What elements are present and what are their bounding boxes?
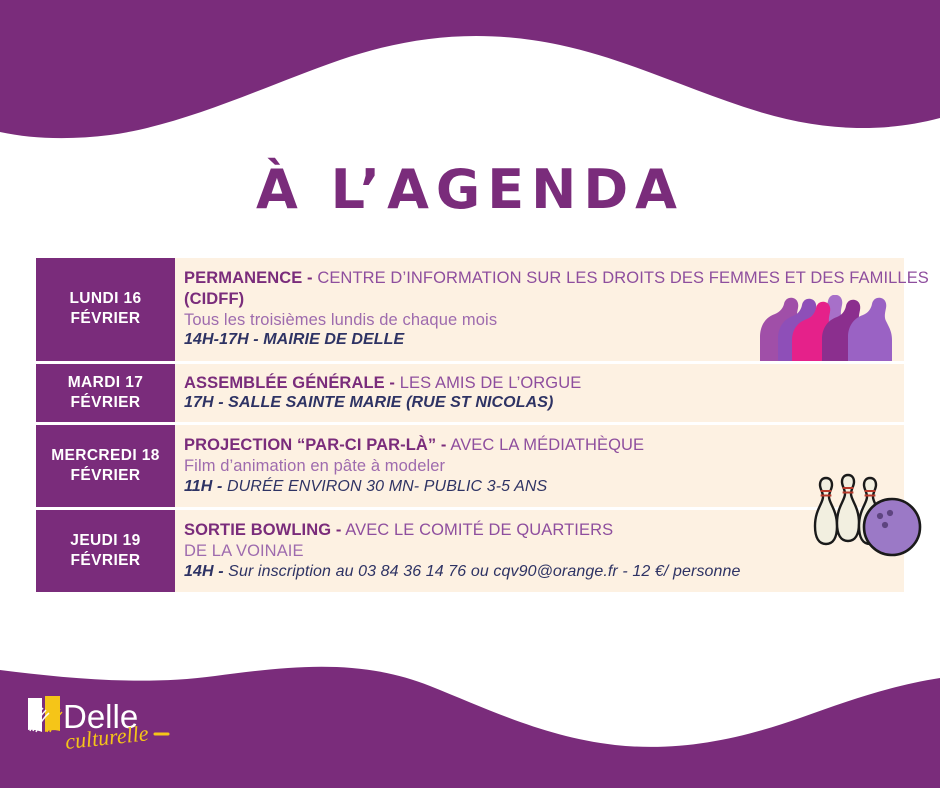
agenda-row-content: SORTIE BOWLING - AVEC LE COMITÉ DE QUART… (175, 510, 904, 592)
agenda-row-day: MARDI 17 FÉVRIER (36, 364, 175, 423)
event-title-rest: AVEC LE COMITÉ DE QUARTIERS (345, 521, 613, 539)
event-title-rest: LES AMIS DE L’ORGUE (400, 374, 582, 392)
agenda-row-day: JEUDI 19 FÉVRIER (36, 510, 175, 592)
day-line-1: MARDI 17 (68, 373, 144, 393)
day-line-2: FÉVRIER (71, 466, 141, 486)
table-row[interactable]: LUNDI 16 FÉVRIER PERMANENCE - CENTRE D’I… (36, 258, 904, 361)
day-line-2: FÉVRIER (71, 393, 141, 413)
event-subtitle: Film d’animation en pâte à modeler (184, 456, 894, 477)
event-title-strong: SORTIE BOWLING - (184, 521, 341, 539)
event-subtitle: Tous les troisièmes lundis de chaque moi… (184, 310, 894, 331)
table-row[interactable]: MERCREDI 18 FÉVRIER PROJECTION “PAR-CI P… (36, 425, 904, 507)
day-line-2: FÉVRIER (71, 551, 141, 571)
event-time-line: 14H - Sur inscription au 03 84 36 14 76 … (184, 562, 894, 582)
event-time-line: 11H - DURÉE ENVIRON 30 MN- PUBLIC 3-5 AN… (184, 477, 894, 497)
event-title-strong: PROJECTION “PAR-CI PAR-LÀ” - (184, 436, 447, 454)
event-title-line: PERMANENCE - CENTRE D’INFORMATION SUR LE… (184, 268, 894, 289)
top-wave-decoration (0, 0, 940, 150)
table-row[interactable]: JEUDI 19 FÉVRIER SORTIE BOWLING - AVEC L… (36, 510, 904, 592)
event-title-extra: (CIDFF) (184, 289, 894, 310)
event-title-rest: AVEC LA MÉDIATHÈQUE (450, 436, 644, 454)
agenda-row-day: LUNDI 16 FÉVRIER (36, 258, 175, 361)
day-line-1: MERCREDI 18 (51, 446, 160, 466)
event-time-strong: 14H-17H - MAIRIE DE DELLE (184, 331, 404, 348)
event-time-strong: 17H - SALLE SAINTE MARIE (RUE ST NICOLAS… (184, 394, 553, 411)
agenda-row-content: PERMANENCE - CENTRE D’INFORMATION SUR LE… (175, 258, 904, 361)
page-title: À L’AGENDA (0, 160, 940, 219)
agenda-table: LUNDI 16 FÉVRIER PERMANENCE - CENTRE D’I… (36, 258, 904, 595)
event-time-strong: 14H - (184, 563, 228, 580)
day-line-2: FÉVRIER (71, 309, 141, 329)
event-title-strong: ASSEMBLÉE GÉNÉRALE - (184, 374, 395, 392)
event-title-line: SORTIE BOWLING - AVEC LE COMITÉ DE QUART… (184, 520, 894, 541)
agenda-row-content: PROJECTION “PAR-CI PAR-LÀ” - AVEC LA MÉD… (175, 425, 904, 507)
event-title-line: ASSEMBLÉE GÉNÉRALE - LES AMIS DE L’ORGUE (184, 373, 894, 394)
event-title-extra-text: (CIDFF) (184, 290, 244, 308)
event-time-rest: DURÉE ENVIRON 30 MN- PUBLIC 3-5 ANS (227, 478, 547, 495)
event-subtitle: DE LA VOINAIE (184, 541, 894, 562)
open-book-icon (28, 696, 62, 732)
event-time-rest: Sur inscription au 03 84 36 14 76 ou cqv… (228, 563, 740, 580)
poster-canvas: À L’AGENDA LUNDI 16 FÉVRIER PERMANENCE -… (0, 0, 940, 788)
event-title-strong: PERMANENCE - (184, 269, 313, 287)
day-line-1: LUNDI 16 (69, 289, 141, 309)
event-title-rest: CENTRE D’INFORMATION SUR LES DROITS DES … (317, 269, 929, 287)
event-title-line: PROJECTION “PAR-CI PAR-LÀ” - AVEC LA MÉD… (184, 435, 894, 456)
event-time-line: 14H-17H - MAIRIE DE DELLE (184, 330, 894, 350)
agenda-row-day: MERCREDI 18 FÉVRIER (36, 425, 175, 507)
table-row[interactable]: MARDI 17 FÉVRIER ASSEMBLÉE GÉNÉRALE - LE… (36, 364, 904, 423)
day-line-1: JEUDI 19 (70, 531, 140, 551)
agenda-row-content: ASSEMBLÉE GÉNÉRALE - LES AMIS DE L’ORGUE… (175, 364, 904, 423)
event-time-strong: 11H - (184, 478, 227, 495)
event-time-line: 17H - SALLE SAINTE MARIE (RUE ST NICOLAS… (184, 393, 894, 413)
brand-logo[interactable]: Delle culturelle (22, 684, 182, 756)
